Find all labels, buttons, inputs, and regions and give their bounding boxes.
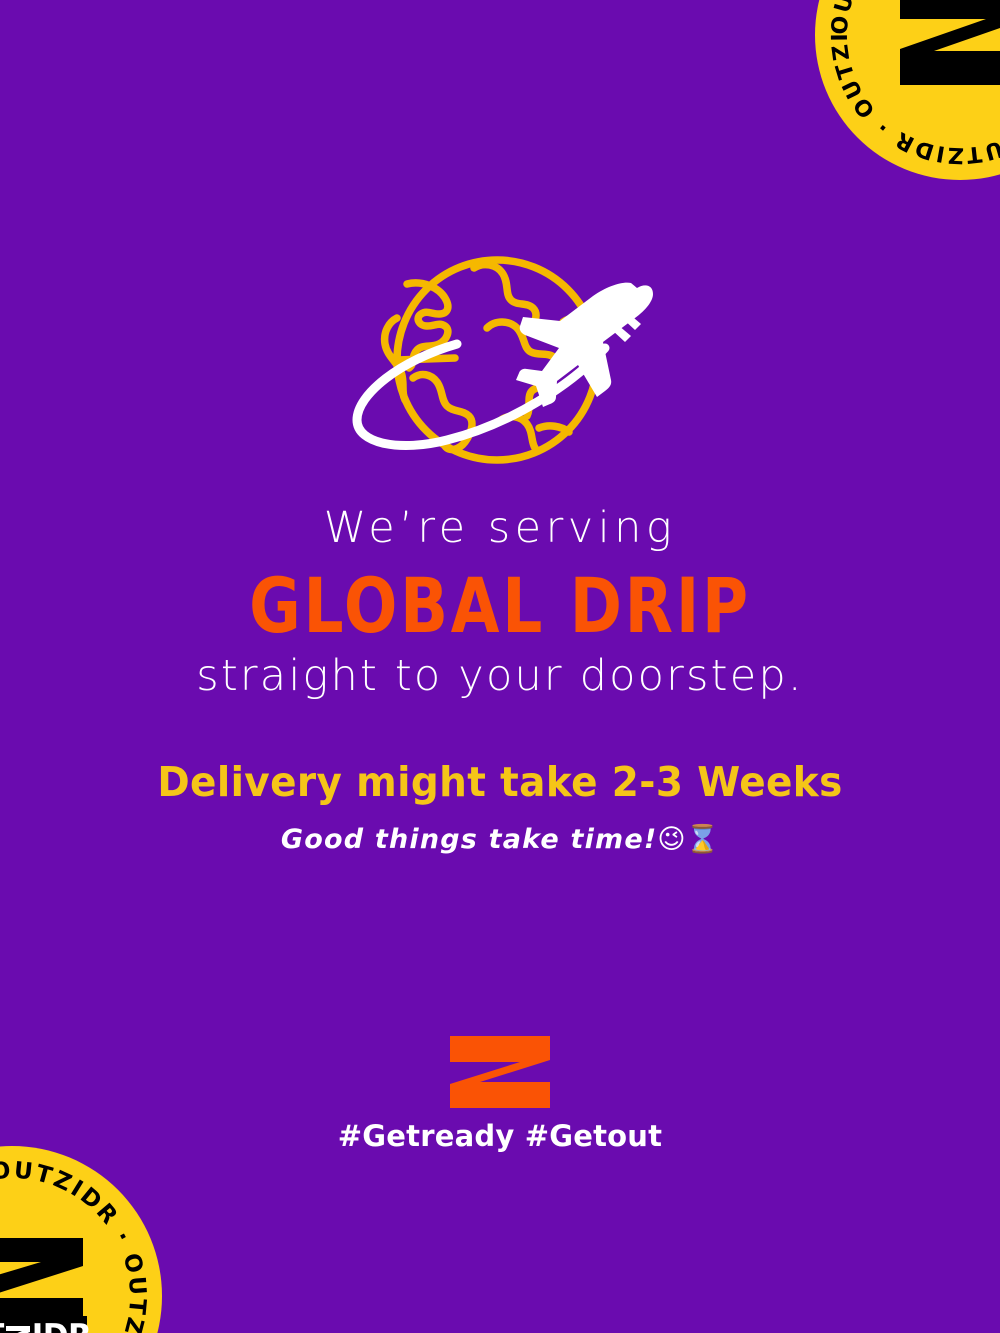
poster-canvas: OUTZIDR · OUTZIDR · OUTZIDR · OUTZIDR · … [0,0,1000,1333]
delivery-time-text: Delivery might take 2-3 Weeks [25,760,975,805]
headline-block: We’re serving GLOBAL DRIP straight to yo… [0,506,1000,699]
delivery-tagline-emoji: 😉⌛ [657,824,719,855]
hashtags-text: #Getready #Getout [338,1122,662,1151]
delivery-tagline: Good things take time!😉⌛ [0,825,1000,855]
outzidr-z-logo [448,1034,552,1110]
badge-z-icon-tr [894,0,1000,89]
badge-wordmark-bl: OUT IDR [0,1316,87,1333]
badge-wordmark-prefix-bl: OUT [0,1321,4,1333]
delivery-tagline-text: Good things take time! [281,824,658,855]
outzidr-badge-top-right: OUTZIDR · OUTZIDR · OUTZIDR · OUTZIDR · … [815,0,1000,180]
headline-text: GLOBAL DRIP [40,568,960,644]
badge-core-tr [894,0,1000,89]
globe-airplane-icon [335,252,665,478]
badge-z-icon-bl [0,1236,87,1322]
kicker-text: We’re serving [0,506,1000,552]
footer-lockup: #Getready #Getout [0,1034,1000,1151]
outzidr-badge-bottom-left: OUTZIDR · OUTZIDR · OUTZIDR · OUTZIDR · … [0,1146,162,1333]
badge-wordmark-suffix-bl: IDR [32,1321,92,1333]
subline-text: straight to your doorstep. [0,654,1000,700]
badge-wordmark-z-icon-bl [5,1321,31,1333]
delivery-block: Delivery might take 2-3 Weeks Good thing… [0,760,1000,855]
badge-core-bl: OUT IDR [0,1236,87,1333]
